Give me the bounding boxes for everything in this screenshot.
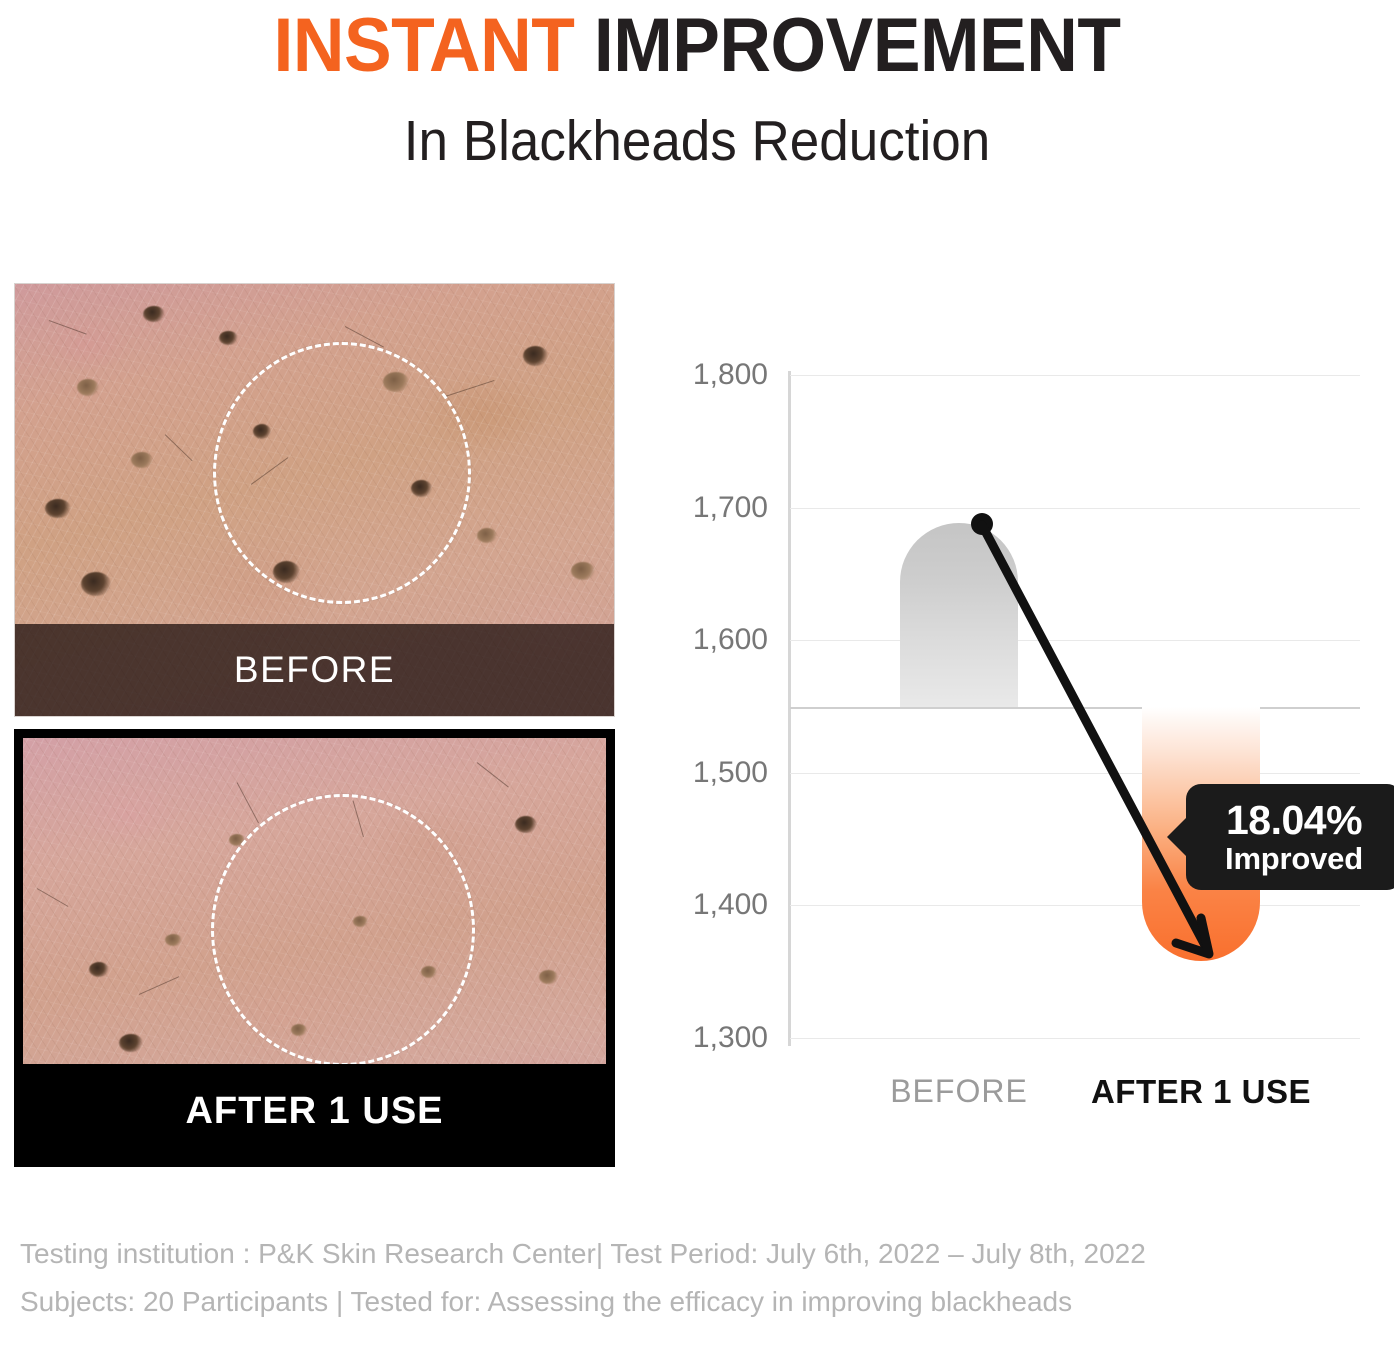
improvement-badge: 18.04% Improved: [1186, 784, 1394, 890]
title-highlight: INSTANT: [273, 3, 574, 88]
results-chart: 1,800 1,700 1,600 1,500 1,400 1,300: [650, 283, 1394, 1188]
page-title: INSTANT IMPROVEMENT: [42, 2, 1352, 90]
after-highlight-circle: [211, 794, 475, 1066]
x-axis-labels: BEFORE AFTER 1 USE: [790, 1073, 1360, 1123]
xlabel-after: AFTER 1 USE: [1091, 1073, 1311, 1111]
after-caption: AFTER 1 USE: [185, 1090, 443, 1133]
trend-arrow: [790, 375, 1360, 1038]
before-caption-band: BEFORE: [15, 624, 614, 716]
footnote-line-1: Testing institution : P&K Skin Research …: [20, 1230, 1146, 1278]
gridline-1300: [790, 1038, 1360, 1039]
ytick-1300: 1,300: [693, 1021, 768, 1055]
footnote: Testing institution : P&K Skin Research …: [20, 1230, 1146, 1326]
ytick-1600: 1,600: [693, 623, 768, 657]
ytick-1500: 1,500: [693, 756, 768, 790]
footnote-line-2: Subjects: 20 Participants | Tested for: …: [20, 1278, 1146, 1326]
ytick-1800: 1,800: [693, 358, 768, 392]
badge-value: 18.04%: [1226, 798, 1362, 842]
after-caption-band: AFTER 1 USE: [23, 1064, 606, 1158]
header: INSTANT IMPROVEMENT In Blackheads Reduct…: [0, 0, 1394, 176]
badge-label: Improved: [1225, 842, 1363, 876]
page-subtitle: In Blackheads Reduction: [49, 106, 1345, 176]
comparison-photos: BEFORE AFTER 1 USE: [14, 283, 615, 1167]
after-photo: AFTER 1 USE: [14, 729, 615, 1167]
xlabel-before: BEFORE: [890, 1073, 1028, 1110]
before-caption: BEFORE: [234, 649, 395, 691]
main-content: BEFORE AFTER 1 USE: [0, 283, 1394, 1188]
chart-plot-area: 1,800 1,700 1,600 1,500 1,400 1,300: [790, 375, 1360, 1038]
before-photo: BEFORE: [14, 283, 615, 717]
ytick-1700: 1,700: [693, 491, 768, 525]
title-rest: IMPROVEMENT: [594, 3, 1121, 88]
before-highlight-circle: [213, 342, 471, 604]
ytick-1400: 1,400: [693, 888, 768, 922]
